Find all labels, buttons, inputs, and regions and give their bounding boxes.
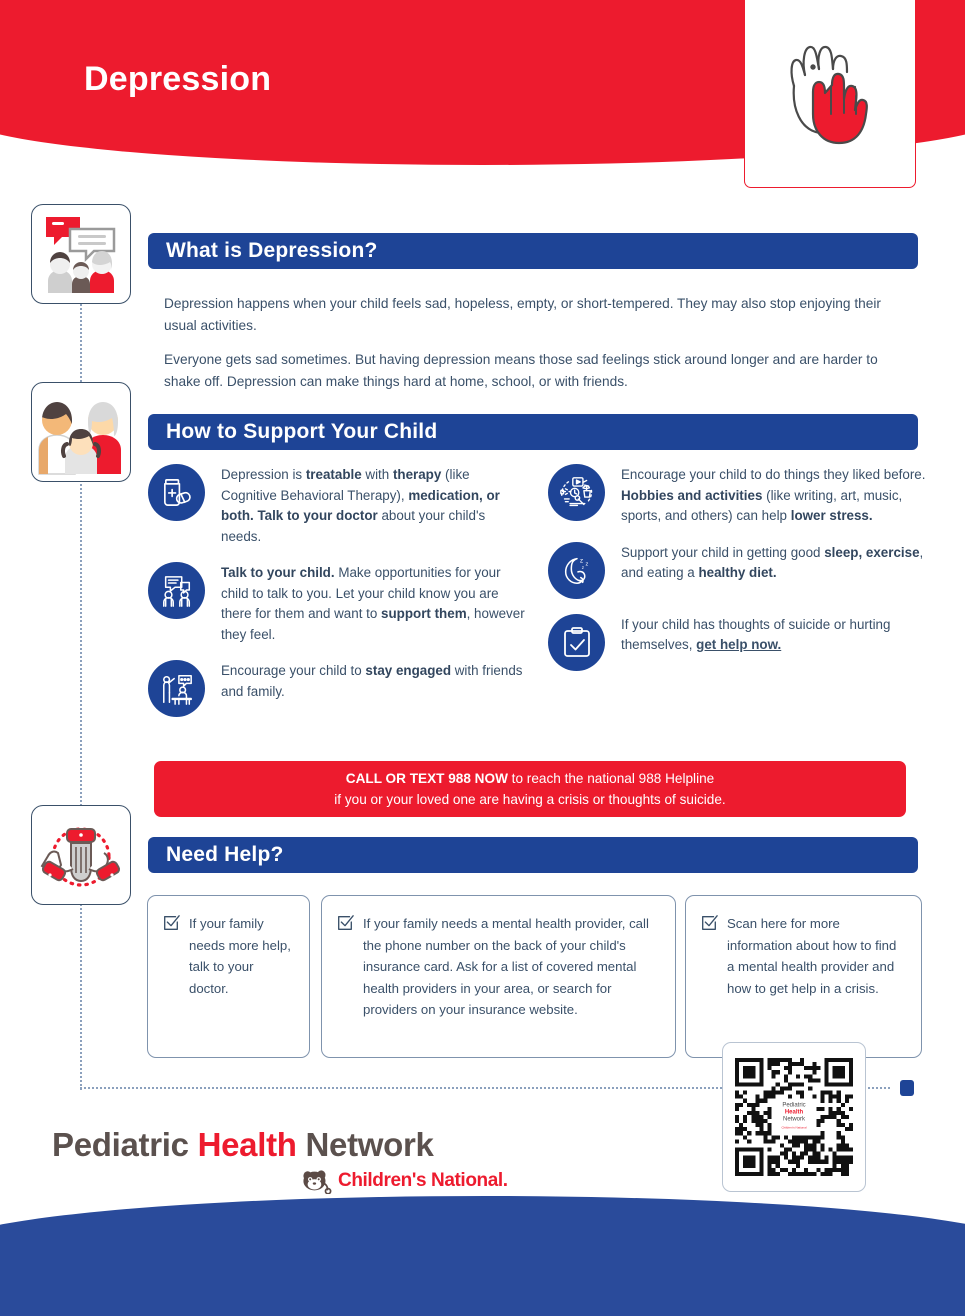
qr-center-label: Pediatric Health Network Children's Nati… xyxy=(777,1100,810,1135)
side-icon-card-what-is-depression xyxy=(31,204,131,304)
side-icon-card-need-help xyxy=(31,805,131,905)
header-icon-card xyxy=(744,0,916,188)
support-item-text: Encourage your child to stay engaged wit… xyxy=(221,658,528,702)
support-items-grid: Depression is treatable with therapy (li… xyxy=(148,462,923,747)
support-item: Encourage your child to stay engaged wit… xyxy=(148,658,528,717)
helping-hands-icon xyxy=(39,813,123,897)
help-card: If your family needs a mental health pro… xyxy=(321,895,676,1058)
hands-stop-icon xyxy=(770,26,890,151)
section-header-what-is-depression: What is Depression? xyxy=(148,233,918,269)
support-item: Talk to your child. Make opportunities f… xyxy=(148,560,528,645)
support-item-text: Depression is treatable with therapy (li… xyxy=(221,462,528,547)
section-heading-label: What is Depression? xyxy=(166,239,378,263)
brand-word-network: Network xyxy=(306,1126,434,1163)
clipboard-check-icon xyxy=(548,614,605,671)
section-header-need-help: Need Help? xyxy=(148,837,918,873)
support-item: z z z Support your child in getting good… xyxy=(548,540,928,599)
talking-people-speech-bubble-icon xyxy=(148,562,205,619)
help-card-text: Scan here for more information about how… xyxy=(727,913,907,999)
panda-bear-stethoscope-icon xyxy=(300,1168,334,1194)
support-column-left: Depression is treatable with therapy (li… xyxy=(148,462,528,730)
callout-line-1: CALL OR TEXT 988 NOW to reach the nation… xyxy=(346,768,714,789)
medication-bottle-pills-icon xyxy=(148,464,205,521)
checkbox-checked-icon xyxy=(162,914,180,932)
section-heading-label: How to Support Your Child xyxy=(166,420,437,444)
support-item: If your child has thoughts of suicide or… xyxy=(548,612,928,671)
paragraph-2: Everyone gets sad sometimes. But having … xyxy=(164,349,904,393)
qr-code-box[interactable]: Pediatric Health Network Children's Nati… xyxy=(722,1042,866,1192)
help-card: If your family needs more help, talk to … xyxy=(147,895,310,1058)
childrens-national-text: Children's National. xyxy=(338,1170,508,1192)
qr-code-image: Pediatric Health Network Children's Nati… xyxy=(735,1058,853,1176)
svg-text:z: z xyxy=(579,557,582,564)
sleep-moon-icon: z z z xyxy=(548,542,605,599)
support-column-right: Encourage your child to do things they l… xyxy=(548,462,928,684)
support-item-text: Talk to your child. Make opportunities f… xyxy=(221,560,528,645)
childrens-national-logo: Children's National. xyxy=(300,1168,508,1194)
footer-navy-wave xyxy=(0,1196,965,1316)
brand-word-health: Health xyxy=(198,1126,297,1163)
support-item: Depression is treatable with therapy (li… xyxy=(148,462,528,547)
checkbox-checked-icon xyxy=(336,914,354,932)
crisis-callout-banner: CALL OR TEXT 988 NOW to reach the nation… xyxy=(154,761,906,817)
help-card-text: If your family needs a mental health pro… xyxy=(363,913,661,1021)
side-icon-card-how-to-support xyxy=(31,382,131,482)
qr-label-line-4: Children's National xyxy=(781,1125,806,1132)
callout-line-2: if you or your loved one are having a cr… xyxy=(334,789,725,810)
support-item-text: Encourage your child to do things they l… xyxy=(621,462,928,527)
svg-text:z: z xyxy=(581,566,584,571)
engaged-group-activity-icon xyxy=(148,660,205,717)
brand-logo-text: Pediatric Health Network xyxy=(52,1126,434,1164)
qr-label-line-2: Health xyxy=(781,1110,806,1117)
hobbies-activities-icon xyxy=(548,464,605,521)
support-item: Encourage your child to do things they l… xyxy=(548,462,928,527)
support-item-text: If your child has thoughts of suicide or… xyxy=(621,612,928,656)
spine-end-marker xyxy=(900,1080,914,1096)
callout-bold-text: CALL OR TEXT 988 NOW xyxy=(346,771,508,786)
family-speech-bubbles-icon xyxy=(38,211,124,297)
section-header-how-to-support: How to Support Your Child xyxy=(148,414,918,450)
paragraph-1: Depression happens when your child feels… xyxy=(164,293,904,337)
section-heading-label: Need Help? xyxy=(166,843,284,867)
svg-text:z: z xyxy=(585,561,588,567)
checkbox-checked-icon xyxy=(700,914,718,932)
brand-word-pediatric: Pediatric xyxy=(52,1126,189,1163)
infographic-page: Depression xyxy=(0,0,965,1251)
help-card: Scan here for more information about how… xyxy=(685,895,922,1058)
qr-label-line-1: Pediatric xyxy=(781,1103,806,1110)
callout-rest-text: to reach the national 988 Helpline xyxy=(508,771,714,786)
page-title: Depression xyxy=(84,60,271,99)
qr-label-line-3: Network xyxy=(781,1117,806,1124)
help-card-text: If your family needs more help, talk to … xyxy=(189,913,295,999)
support-item-text: Support your child in getting good sleep… xyxy=(621,540,928,584)
family-portrait-icon xyxy=(37,388,125,476)
